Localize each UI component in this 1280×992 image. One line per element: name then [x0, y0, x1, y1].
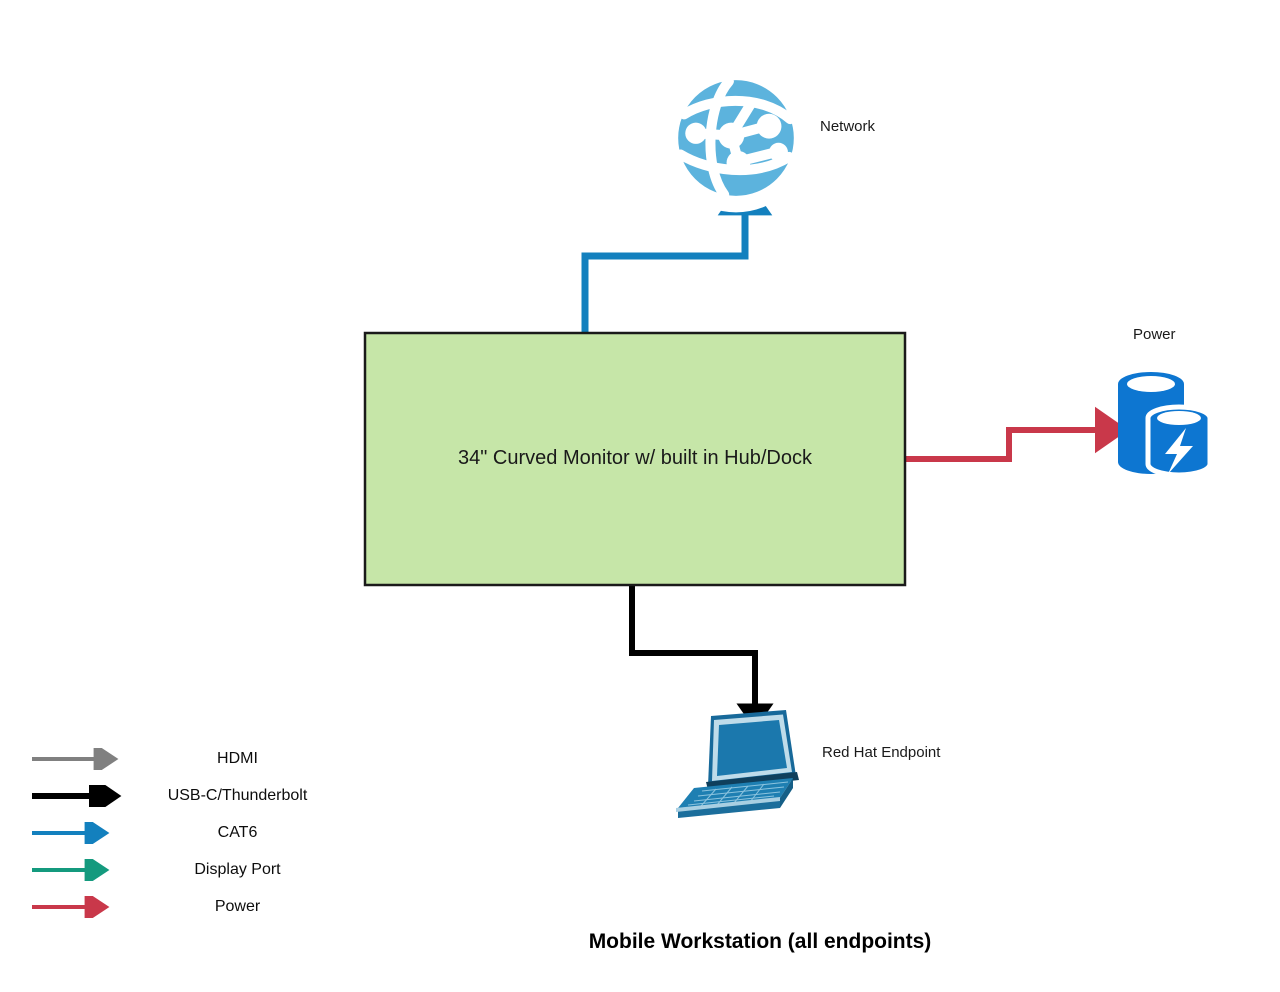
legend-item-cat6: CAT6	[30, 814, 400, 851]
legend-label-cat6: CAT6	[140, 824, 335, 842]
legend-label-power: Power	[140, 898, 335, 916]
legend: HDMI USB-C/Thunderbolt	[30, 740, 400, 925]
legend-label-hdmi: HDMI	[140, 750, 335, 768]
legend-label-usbc: USB-C/Thunderbolt	[140, 787, 335, 805]
legend-arrow-power	[30, 896, 130, 918]
legend-label-displayport: Display Port	[140, 861, 335, 879]
legend-item-displayport: Display Port	[30, 851, 400, 888]
legend-arrow-cat6	[30, 822, 130, 844]
legend-item-hdmi: HDMI	[30, 740, 400, 777]
diagram-title: Mobile Workstation (all endpoints)	[460, 930, 1060, 954]
legend-item-power: Power	[30, 888, 400, 925]
legend-item-usbc: USB-C/Thunderbolt	[30, 777, 400, 814]
endpoint-label: Red Hat Endpoint	[822, 744, 940, 762]
legend-arrow-hdmi	[30, 748, 130, 770]
diagram-canvas: 34" Curved Monitor w/ built in Hub/Dock	[0, 0, 1280, 992]
legend-arrow-usbc	[30, 785, 130, 807]
legend-arrow-displayport	[30, 859, 130, 881]
